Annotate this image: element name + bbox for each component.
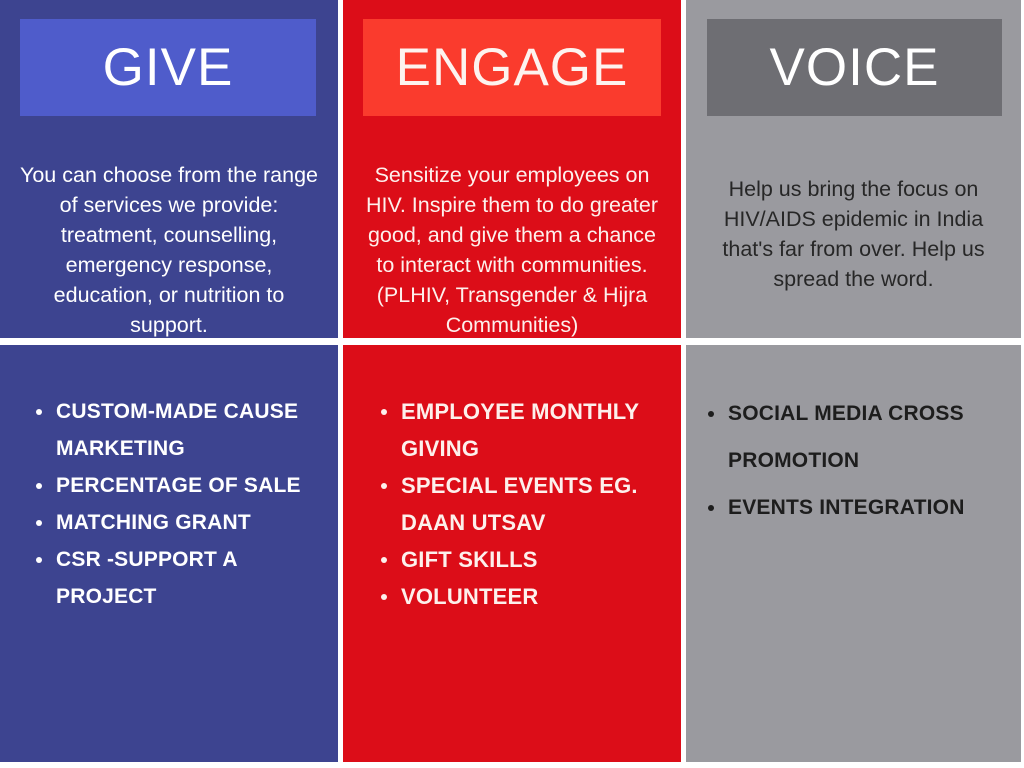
give-description: You can choose from the range of service…: [14, 160, 324, 340]
list-item: PERCENTAGE OF SALE: [30, 467, 330, 504]
voice-description: Help us bring the focus on HIV/AIDS epid…: [700, 174, 1007, 294]
voice-heading-chip: VOICE: [707, 19, 1002, 116]
column-engage: ENGAGE Sensitize your employees on HIV. …: [343, 0, 681, 762]
list-item: GIFT SKILLS: [375, 541, 673, 578]
divider-vertical-right: [681, 0, 686, 768]
list-item: EVENTS INTEGRATION: [702, 484, 1013, 531]
engage-title: ENGAGE: [396, 41, 629, 94]
engage-description: Sensitize your employees on HIV. Inspire…: [357, 160, 667, 340]
engage-description-panel: ENGAGE Sensitize your employees on HIV. …: [343, 0, 681, 338]
voice-bullets-panel: SOCIAL MEDIA CROSS PROMOTION EVENTS INTE…: [686, 345, 1021, 762]
voice-bullet-list: SOCIAL MEDIA CROSS PROMOTION EVENTS INTE…: [686, 390, 1021, 531]
give-bullets-panel: CUSTOM-MADE CAUSE MARKETING PERCENTAGE O…: [0, 345, 338, 762]
list-item: SPECIAL EVENTS EG. DAAN UTSAV: [375, 467, 673, 541]
divider-vertical-left: [338, 0, 343, 768]
give-title: GIVE: [103, 41, 234, 94]
engage-bullet-list: EMPLOYEE MONTHLY GIVING SPECIAL EVENTS E…: [343, 393, 681, 615]
list-item: CSR -SUPPORT A PROJECT: [30, 541, 330, 615]
column-voice: VOICE Help us bring the focus on HIV/AID…: [686, 0, 1021, 762]
list-item: SOCIAL MEDIA CROSS PROMOTION: [702, 390, 1013, 484]
list-item: CUSTOM-MADE CAUSE MARKETING: [30, 393, 330, 467]
voice-description-panel: VOICE Help us bring the focus on HIV/AID…: [686, 0, 1021, 338]
three-column-infographic: GIVE You can choose from the range of se…: [0, 0, 1024, 768]
give-bullet-list: CUSTOM-MADE CAUSE MARKETING PERCENTAGE O…: [0, 393, 338, 615]
list-item: VOLUNTEER: [375, 578, 673, 615]
list-item: MATCHING GRANT: [30, 504, 330, 541]
divider-horizontal: [0, 338, 1024, 345]
divider-bottom-edge: [0, 762, 1024, 768]
give-heading-chip: GIVE: [20, 19, 316, 116]
column-give: GIVE You can choose from the range of se…: [0, 0, 338, 762]
voice-title: VOICE: [770, 41, 940, 94]
engage-bullets-panel: EMPLOYEE MONTHLY GIVING SPECIAL EVENTS E…: [343, 345, 681, 762]
list-item: EMPLOYEE MONTHLY GIVING: [375, 393, 673, 467]
engage-heading-chip: ENGAGE: [363, 19, 661, 116]
give-description-panel: GIVE You can choose from the range of se…: [0, 0, 338, 338]
